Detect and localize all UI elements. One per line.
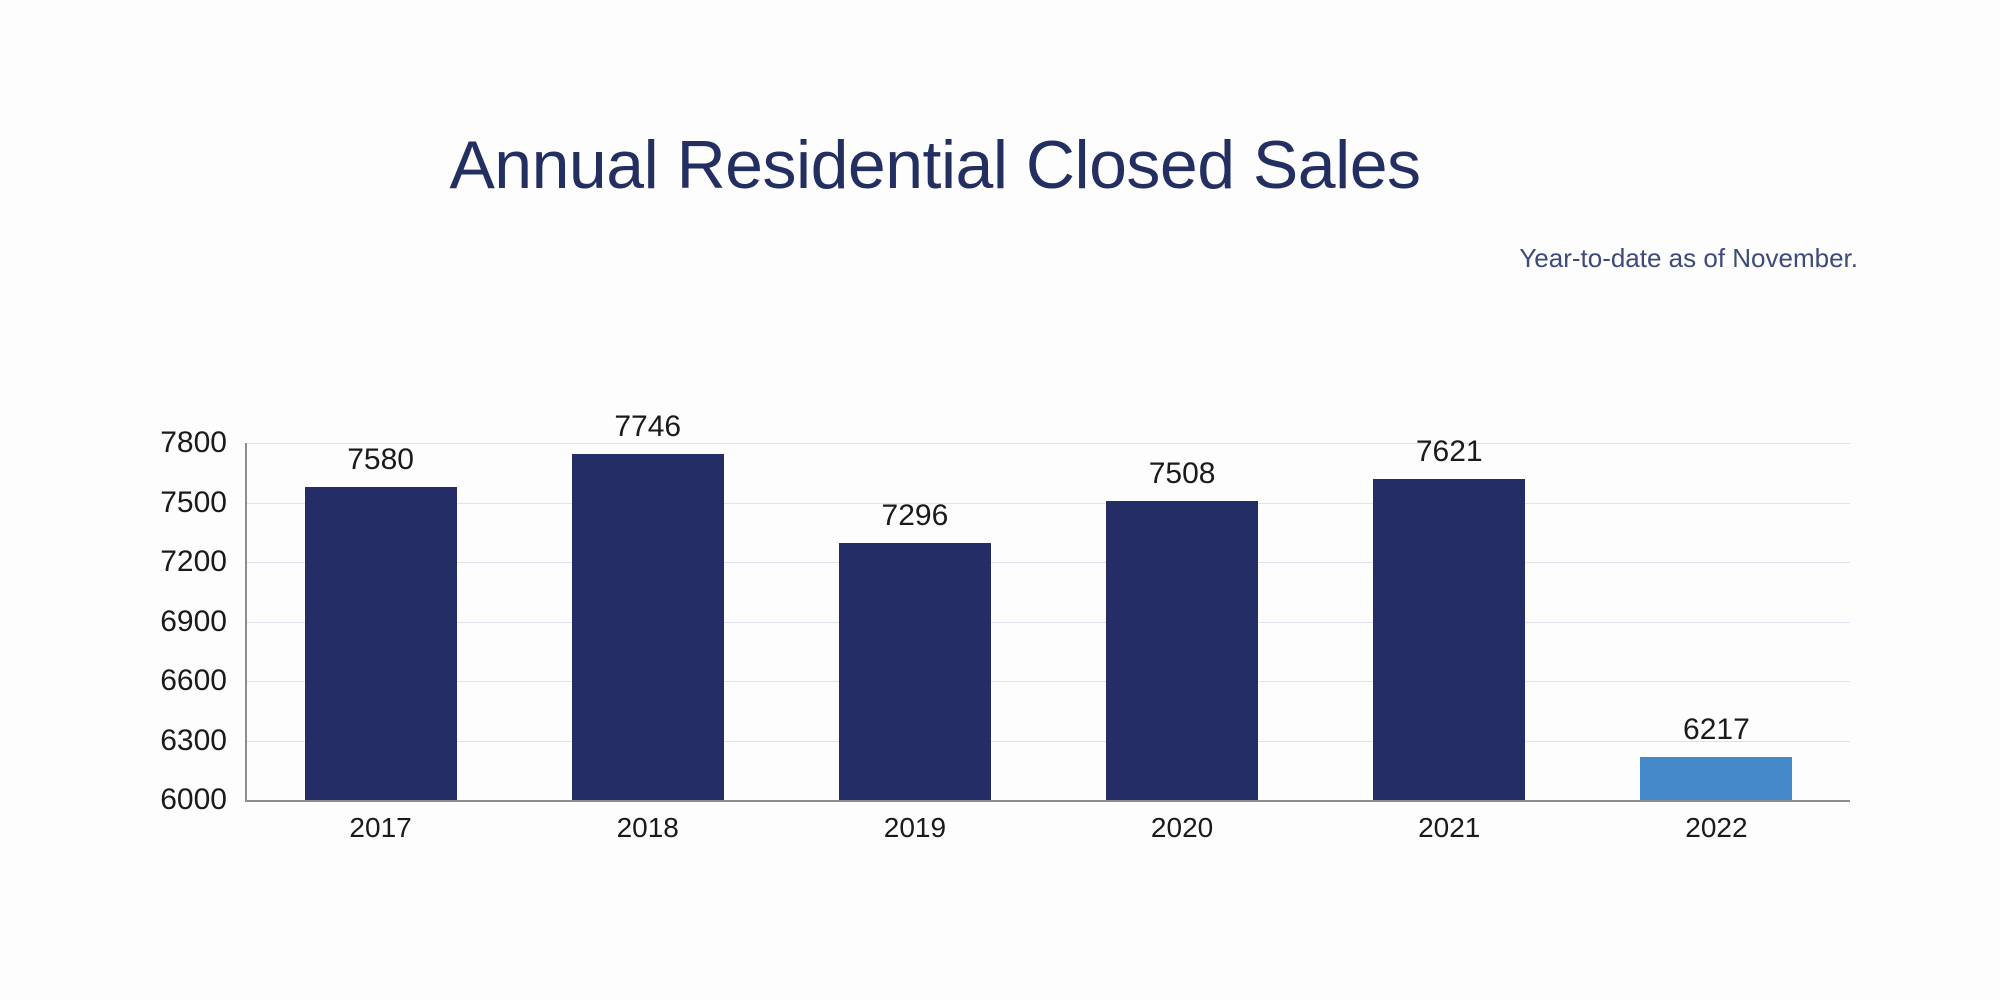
y-axis-tick-label: 6300 (107, 724, 227, 758)
bar-rect[interactable] (305, 487, 457, 800)
gridline (247, 562, 1850, 563)
bar[interactable]: 7296 (839, 543, 991, 800)
bar-value-label: 7508 (1149, 457, 1216, 491)
bar-value-label: 7746 (614, 410, 681, 444)
x-axis-tick-label: 2021 (1369, 812, 1529, 844)
bar-rect[interactable] (1373, 479, 1525, 800)
gridline (247, 800, 1850, 801)
gridline (247, 503, 1850, 504)
bar-rect[interactable] (572, 454, 724, 800)
bar-rect[interactable] (1106, 501, 1258, 800)
x-axis-tick-label: 2019 (835, 812, 995, 844)
chart-canvas: Annual Residential Closed Sales Year-to-… (0, 0, 2000, 1000)
bar[interactable]: 7580 (305, 487, 457, 800)
y-axis-tick-label: 6000 (107, 783, 227, 817)
plot-area: 758077467296750876216217 (247, 443, 1850, 800)
bar-value-label: 7580 (347, 443, 414, 477)
bar[interactable]: 7508 (1106, 501, 1258, 800)
y-axis-tick-label: 7800 (107, 426, 227, 460)
x-axis-tick-label: 2022 (1636, 812, 1796, 844)
gridline (247, 622, 1850, 623)
gridline (247, 741, 1850, 742)
gridline (247, 443, 1850, 444)
y-axis-tick-label: 6900 (107, 605, 227, 639)
y-axis-tick-label: 6600 (107, 664, 227, 698)
bar-value-label: 6217 (1683, 713, 1750, 747)
bar-value-label: 7621 (1416, 435, 1483, 469)
bar[interactable]: 7621 (1373, 479, 1525, 800)
y-axis-tick-label: 7200 (107, 545, 227, 579)
bar-rect[interactable] (1640, 757, 1792, 800)
x-axis-tick-label: 2017 (301, 812, 461, 844)
bar[interactable]: 7746 (572, 454, 724, 800)
x-axis-tick-label: 2018 (568, 812, 728, 844)
y-axis-tick-label: 7500 (107, 486, 227, 520)
bar-rect[interactable] (839, 543, 991, 800)
page-title: Annual Residential Closed Sales (0, 130, 1870, 201)
bar-value-label: 7296 (882, 499, 949, 533)
bar[interactable]: 6217 (1640, 757, 1792, 800)
gridline (247, 681, 1850, 682)
x-axis-tick-label: 2020 (1102, 812, 1262, 844)
chart-subtitle: Year-to-date as of November. (0, 243, 1858, 274)
